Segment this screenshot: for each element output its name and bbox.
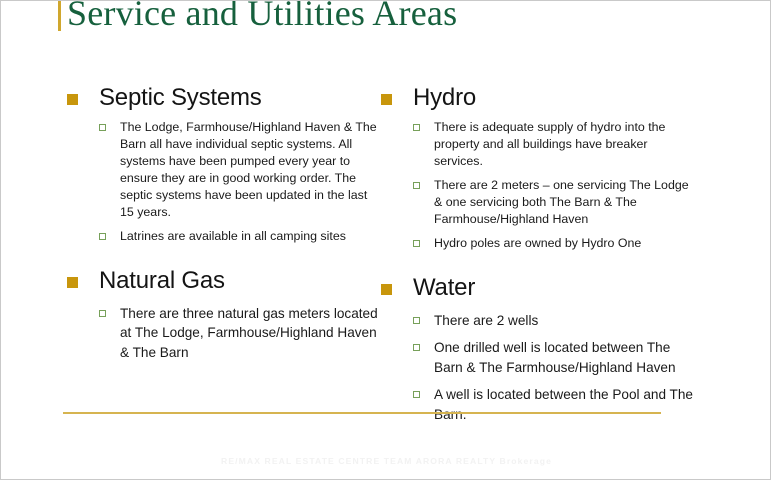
page-title: Service and Utilities Areas xyxy=(67,0,457,34)
hollow-square-bullet-icon xyxy=(413,240,420,247)
hollow-square-bullet-icon xyxy=(413,317,420,324)
hollow-square-bullet-icon xyxy=(99,233,106,240)
list-item: The Lodge, Farmhouse/Highland Haven & Th… xyxy=(63,119,383,221)
section-title-text: Natural Gas xyxy=(99,266,383,296)
section-heading-water: Water xyxy=(377,273,697,303)
list-item-text: There are 2 meters – one servicing The L… xyxy=(434,177,697,228)
list-item-text: One drilled well is located between The … xyxy=(434,338,697,377)
content-column-left: Septic Systems The Lodge, Farmhouse/High… xyxy=(63,83,383,370)
bullet-list-water: There are 2 wells One drilled well is lo… xyxy=(377,311,697,424)
section-heading-septic-systems: Septic Systems xyxy=(63,83,383,113)
section-title-text: Hydro xyxy=(413,83,697,113)
list-item-text: There are 2 wells xyxy=(434,311,697,330)
list-item: One drilled well is located between The … xyxy=(377,338,697,377)
bullet-list-septic-systems: The Lodge, Farmhouse/Highland Haven & Th… xyxy=(63,119,383,245)
footer-watermark-text: RE/MAX REAL ESTATE CENTRE TEAM ARORA REA… xyxy=(1,456,771,466)
list-item: A well is located between the Pool and T… xyxy=(377,385,697,424)
list-item: There are three natural gas meters locat… xyxy=(63,304,383,362)
hollow-square-bullet-icon xyxy=(413,344,420,351)
bullet-list-hydro: There is adequate supply of hydro into t… xyxy=(377,119,697,252)
section-heading-natural-gas: Natural Gas xyxy=(63,266,383,296)
square-bullet-icon xyxy=(67,277,78,288)
hollow-square-bullet-icon xyxy=(99,124,106,131)
list-item-text: Hydro poles are owned by Hydro One xyxy=(434,235,697,252)
section-title-text: Water xyxy=(413,273,697,303)
list-item: There are 2 meters – one servicing The L… xyxy=(377,177,697,228)
hollow-square-bullet-icon xyxy=(99,310,106,317)
title-accent-bar xyxy=(58,0,61,31)
section-title-text: Septic Systems xyxy=(99,83,383,113)
spacer xyxy=(377,303,697,311)
section-water: Water There are 2 wells One drilled well… xyxy=(377,273,697,424)
list-item: There are 2 wells xyxy=(377,311,697,330)
section-heading-hydro: Hydro xyxy=(377,83,697,113)
list-item: Hydro poles are owned by Hydro One xyxy=(377,235,697,252)
footer-divider xyxy=(63,412,661,414)
section-natural-gas: Natural Gas There are three natural gas … xyxy=(63,266,383,362)
section-hydro: Hydro There is adequate supply of hydro … xyxy=(377,83,697,252)
square-bullet-icon xyxy=(381,94,392,105)
square-bullet-icon xyxy=(381,284,392,295)
hollow-square-bullet-icon xyxy=(413,124,420,131)
bullet-list-natural-gas: There are three natural gas meters locat… xyxy=(63,304,383,362)
list-item-text: The Lodge, Farmhouse/Highland Haven & Th… xyxy=(120,119,383,221)
content-column-right: Hydro There is adequate supply of hydro … xyxy=(377,83,697,432)
list-item-text: Latrines are available in all camping si… xyxy=(120,228,383,245)
section-septic-systems: Septic Systems The Lodge, Farmhouse/High… xyxy=(63,83,383,245)
hollow-square-bullet-icon xyxy=(413,391,420,398)
square-bullet-icon xyxy=(67,94,78,105)
list-item: There is adequate supply of hydro into t… xyxy=(377,119,697,170)
list-item-text: There is adequate supply of hydro into t… xyxy=(434,119,697,170)
presentation-slide: Service and Utilities Areas Septic Syste… xyxy=(0,0,771,480)
list-item-text: A well is located between the Pool and T… xyxy=(434,385,697,424)
list-item: Latrines are available in all camping si… xyxy=(63,228,383,245)
spacer xyxy=(63,296,383,304)
list-item-text: There are three natural gas meters locat… xyxy=(120,304,383,362)
hollow-square-bullet-icon xyxy=(413,182,420,189)
